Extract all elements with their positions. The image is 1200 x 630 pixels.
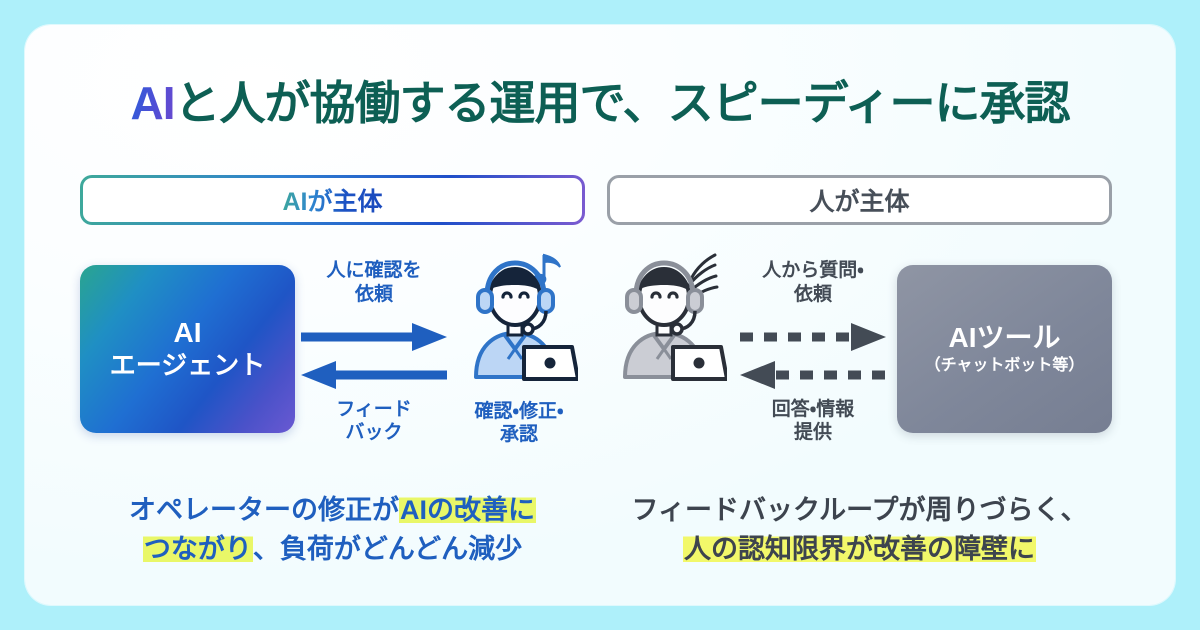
panel-header-ai-led-label: AIが主体 <box>282 182 382 218</box>
arrows-ai-led: 人に確認を 依頼 フィード バック <box>295 249 453 449</box>
conclusion-human-led-line1: フィードバックループが周りづらく、 <box>607 491 1112 530</box>
operator-headset-laptop-stressed-icon <box>609 249 727 381</box>
arrow-label-question: 人から質問・ 依頼 <box>729 259 897 307</box>
panel-header-human-led-label: 人が主体 <box>809 182 909 218</box>
node-ai-tool-line2: （チャットボット等） <box>925 356 1085 377</box>
arrow-label-answer: 回答・情報 提供 <box>729 398 897 446</box>
node-ai-agent-line1: AI <box>174 317 202 349</box>
conclusion-human-led-line2-highlight: 人の認知限界が改善の障壁に <box>683 534 1036 564</box>
arrows-human-led: 人から質問・ 依頼 回答・情報 提供 <box>729 249 897 449</box>
panel-ai-led: AIが主体 AI エージェント 人に確認を 依頼 <box>80 175 585 575</box>
conclusion-ai-led: オペレーターの修正がAIの改善に つながり、負荷がどんどん減少 <box>80 491 585 569</box>
conclusion-ai-led-line1: オペレーターの修正がAIの改善に <box>80 491 585 530</box>
node-ai-tool-line1: AIツール <box>948 321 1060 355</box>
panel-human-led: 人が主体 <box>607 175 1112 575</box>
conclusion-ai-led-line1-plain: オペレーターの修正が <box>129 495 399 525</box>
arrow-label-feedback: フィード バック <box>295 398 453 446</box>
poster-canvas: AIと人が協働する運用で、スピーディーに承認 AIが主体 AI エージェント <box>0 0 1200 630</box>
arrow-pair-solid-icon <box>299 323 449 393</box>
title-rest: と人が協働する運用で、スピーディーに承認 <box>175 77 1070 129</box>
arrow-label-request: 人に確認を 依頼 <box>295 259 453 307</box>
node-ai-tool: AIツール （チャットボット等） <box>897 265 1112 433</box>
panel-header-ai-led: AIが主体 <box>80 175 585 225</box>
conclusion-human-led-line2: 人の認知限界が改善の障壁に <box>607 530 1112 569</box>
person-operator-label: 確認・修正・ 承認 <box>431 400 607 448</box>
conclusion-ai-led-line2-plain: 、負荷がどんどん減少 <box>253 534 522 564</box>
conclusion-human-led-line1-plain: フィードバックループが周りづらく、 <box>631 495 1087 525</box>
conclusion-ai-led-line1-highlight: AIの改善に <box>399 495 536 525</box>
flow-human-led: 人から質問・ 依頼 回答・情報 提供 AIツール （チャットボット等） <box>607 249 1112 449</box>
conclusion-ai-led-line2: つながり、負荷がどんどん減少 <box>80 530 585 569</box>
person-operator-stressed <box>607 249 729 449</box>
title-accent: AI <box>131 77 175 129</box>
flow-ai-led: AI エージェント 人に確認を 依頼 <box>80 249 585 449</box>
node-ai-agent: AI エージェント <box>80 265 295 433</box>
conclusion-human-led: フィードバックループが周りづらく、 人の認知限界が改善の障壁に <box>607 491 1112 569</box>
panel-header-human-led: 人が主体 <box>607 175 1112 225</box>
page-title: AIと人が協働する運用で、スピーディーに承認 <box>25 67 1175 133</box>
poster-card: AIと人が協働する運用で、スピーディーに承認 AIが主体 AI エージェント <box>25 25 1175 605</box>
arrow-pair-dashed-icon <box>738 323 888 393</box>
conclusion-ai-led-line2-highlight: つながり <box>143 534 253 564</box>
panels-container: AIが主体 AI エージェント 人に確認を 依頼 <box>80 175 1120 575</box>
node-ai-agent-line2: エージェント <box>110 350 265 381</box>
operator-headset-laptop-happy-icon <box>460 249 578 381</box>
person-operator-happy: 確認・修正・ 承認 <box>453 249 585 449</box>
